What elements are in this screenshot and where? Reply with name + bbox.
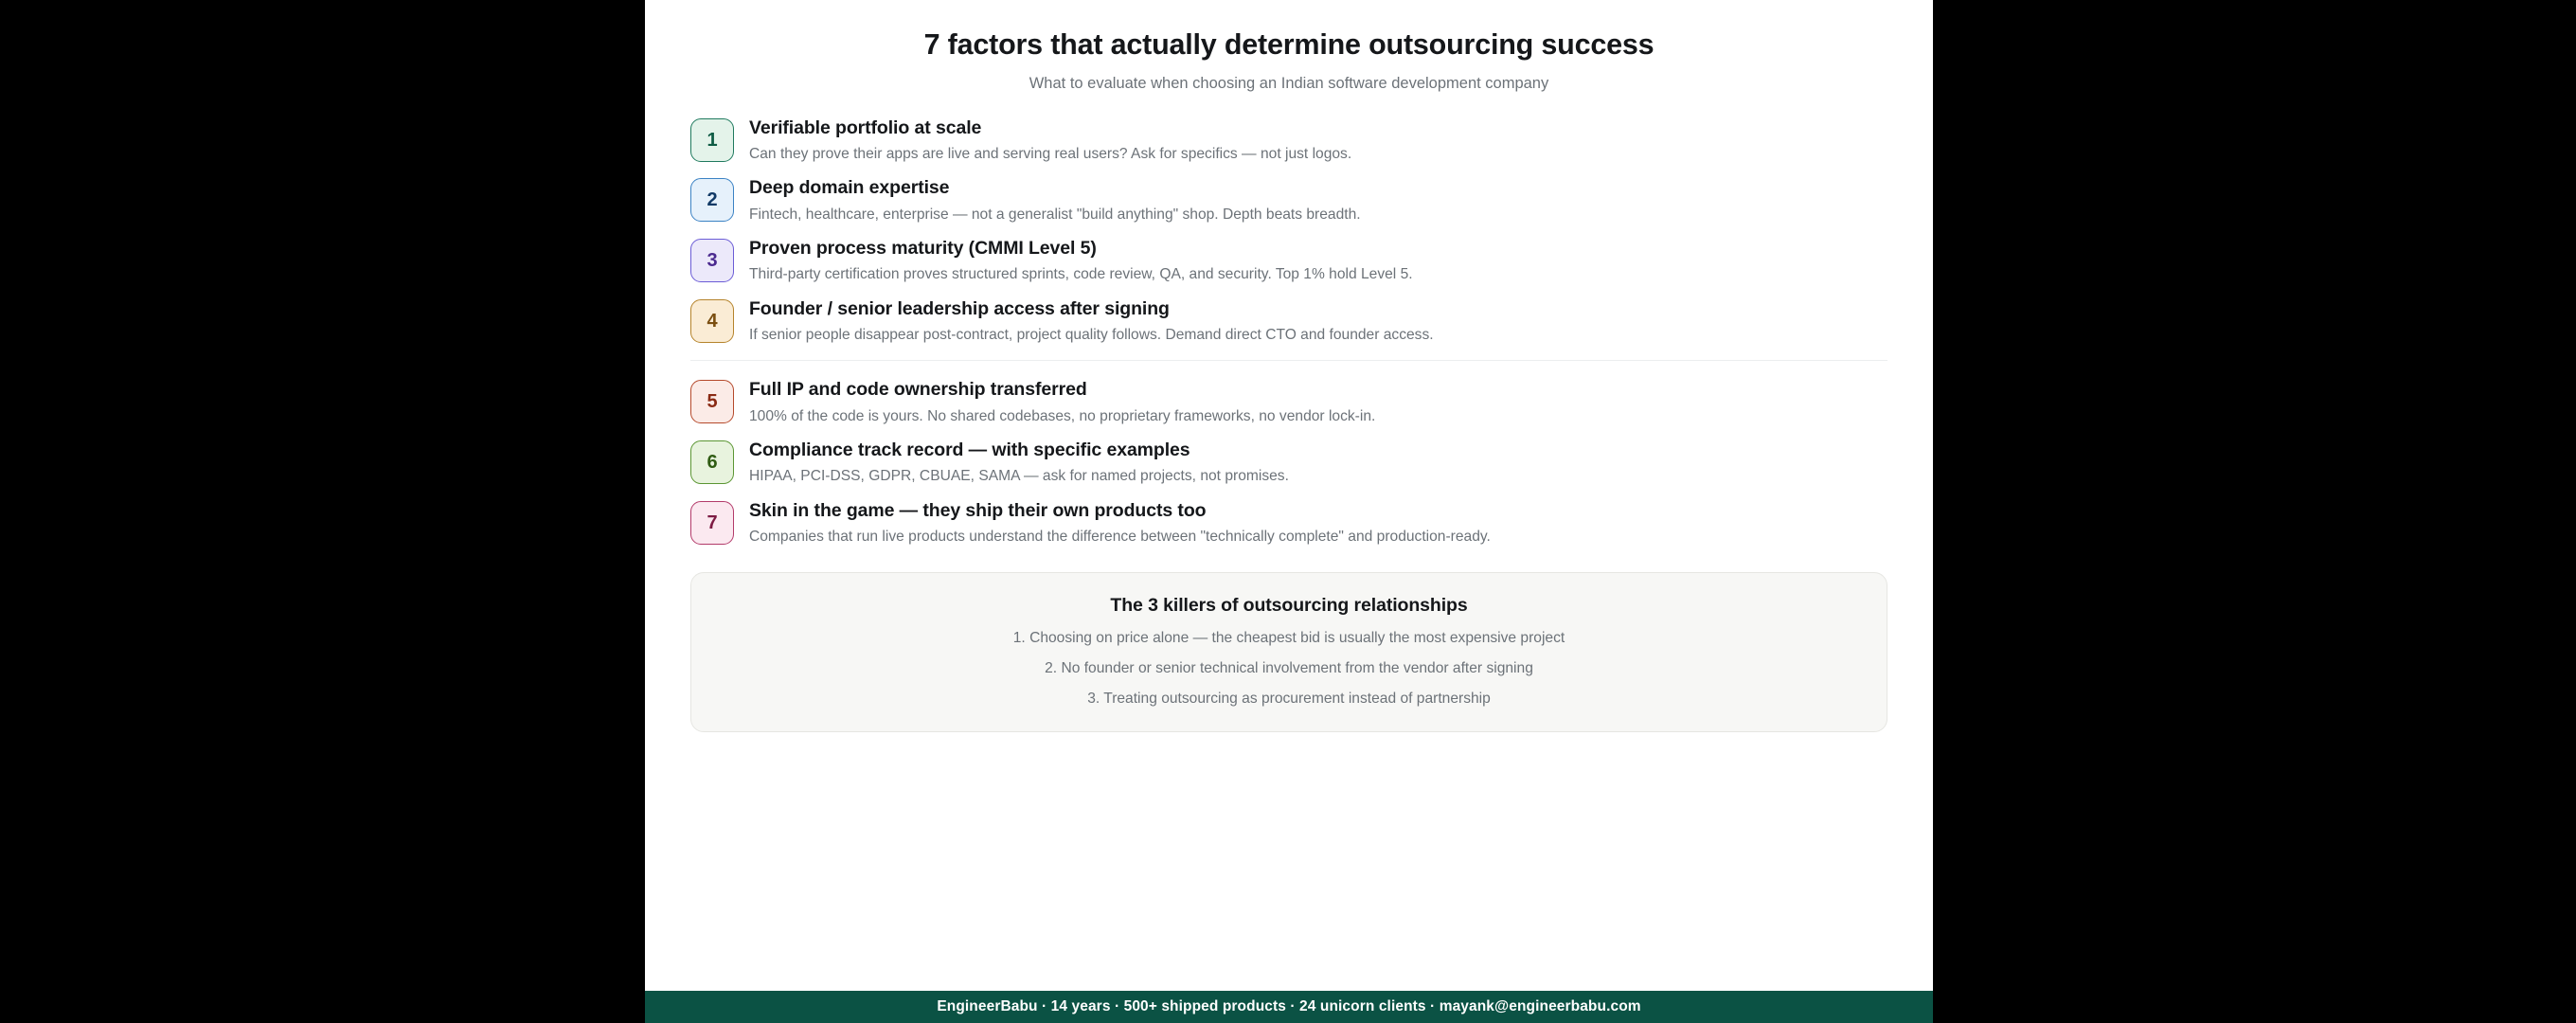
factor-row: 2Deep domain expertiseFintech, healthcar… (690, 176, 1887, 224)
factor-list: 1Verifiable portfolio at scaleCan they p… (690, 117, 1887, 547)
factor-title: Verifiable portfolio at scale (749, 117, 1887, 139)
factor-row: 3Proven process maturity (CMMI Level 5)T… (690, 237, 1887, 285)
killers-list: 1. Choosing on price alone — the cheapes… (720, 618, 1858, 709)
footer-bar: EngineerBabu · 14 years · 500+ shipped p… (645, 991, 1933, 1023)
factor-number-badge: 6 (690, 440, 734, 484)
factor-title: Skin in the game — they ship their own p… (749, 499, 1887, 522)
factor-number-badge: 3 (690, 239, 734, 282)
killers-item: 3. Treating outsourcing as procurement i… (720, 678, 1858, 709)
factor-number-badge: 5 (690, 380, 734, 423)
factor-number-badge: 7 (690, 501, 734, 545)
factor-text: Deep domain expertiseFintech, healthcare… (749, 176, 1887, 224)
factor-description: HIPAA, PCI-DSS, GDPR, CBUAE, SAMA — ask … (749, 461, 1887, 486)
factor-text: Skin in the game — they ship their own p… (749, 499, 1887, 547)
factor-description: Third-party certification proves structu… (749, 260, 1887, 284)
factor-title: Full IP and code ownership transferred (749, 378, 1887, 401)
slide-content: 7 factors that actually determine outsou… (645, 0, 1933, 991)
killers-callout: The 3 killers of outsourcing relationshi… (690, 572, 1887, 732)
factor-text: Verifiable portfolio at scaleCan they pr… (749, 117, 1887, 165)
factor-text: Founder / senior leadership access after… (749, 297, 1887, 346)
factor-number-badge: 4 (690, 299, 734, 343)
factor-description: Companies that run live products underst… (749, 522, 1887, 547)
factor-text: Full IP and code ownership transferred10… (749, 378, 1887, 426)
factor-title: Founder / senior leadership access after… (749, 297, 1887, 320)
footer-text: EngineerBabu · 14 years · 500+ shipped p… (937, 998, 1640, 1015)
factor-title: Compliance track record — with specific … (749, 439, 1887, 461)
factor-description: Can they prove their apps are live and s… (749, 139, 1887, 164)
factor-description: Fintech, healthcare, enterprise — not a … (749, 200, 1887, 224)
page-subtitle: What to evaluate when choosing an Indian… (690, 63, 1887, 94)
killers-item: 2. No founder or senior technical involv… (720, 648, 1858, 678)
factor-number-badge: 1 (690, 118, 734, 162)
factor-text: Compliance track record — with specific … (749, 439, 1887, 487)
slide-card: 7 factors that actually determine outsou… (645, 0, 1933, 1023)
factor-description: If senior people disappear post-contract… (749, 320, 1887, 345)
factor-row: 7Skin in the game — they ship their own … (690, 499, 1887, 547)
factor-row: 1Verifiable portfolio at scaleCan they p… (690, 117, 1887, 165)
group-divider (690, 360, 1887, 361)
killers-title: The 3 killers of outsourcing relationshi… (720, 594, 1858, 617)
factor-description: 100% of the code is yours. No shared cod… (749, 402, 1887, 426)
factor-row: 6Compliance track record — with specific… (690, 439, 1887, 487)
killers-item: 1. Choosing on price alone — the cheapes… (720, 618, 1858, 648)
factor-title: Deep domain expertise (749, 176, 1887, 199)
factor-number-badge: 2 (690, 178, 734, 222)
factor-title: Proven process maturity (CMMI Level 5) (749, 237, 1887, 260)
factor-row: 5Full IP and code ownership transferred1… (690, 378, 1887, 426)
factor-row: 4Founder / senior leadership access afte… (690, 297, 1887, 346)
slide-canvas: 7 factors that actually determine outsou… (0, 0, 2576, 1023)
factor-text: Proven process maturity (CMMI Level 5)Th… (749, 237, 1887, 285)
page-title: 7 factors that actually determine outsou… (690, 28, 1887, 63)
